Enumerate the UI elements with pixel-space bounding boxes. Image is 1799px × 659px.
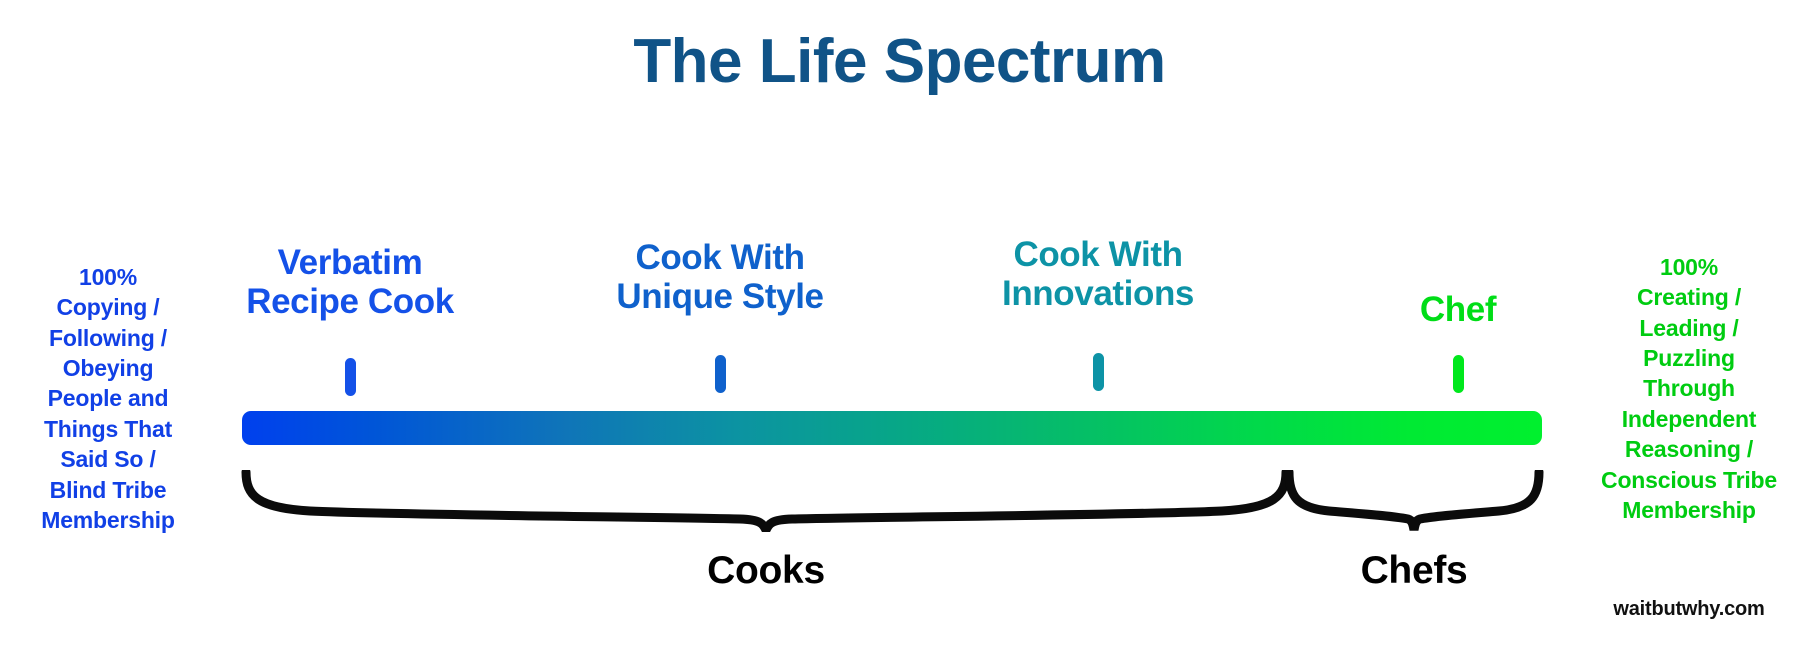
spectrum-gradient-bar bbox=[242, 411, 1542, 445]
infographic-canvas: The Life Spectrum 100% Copying / Followi… bbox=[0, 0, 1799, 659]
watermark-source: waitbutwhy.com bbox=[1585, 598, 1793, 621]
right-end-caption: 100% Creating / Leading / Puzzling Throu… bbox=[1585, 252, 1793, 525]
tick-marker-cook-with-innovations bbox=[1093, 353, 1104, 391]
group-label-chefs: Chefs bbox=[1264, 549, 1564, 593]
tick-marker-cook-with-unique-style bbox=[715, 355, 726, 393]
brace-cooks bbox=[240, 470, 1292, 532]
stop-label-chef: Chef bbox=[1308, 290, 1608, 329]
left-end-caption: 100% Copying / Following / Obeying Peopl… bbox=[8, 262, 208, 535]
page-title: The Life Spectrum bbox=[0, 28, 1799, 96]
stop-label-cook-with-unique-style: Cook With Unique Style bbox=[565, 238, 875, 316]
group-label-cooks: Cooks bbox=[616, 549, 916, 593]
brace-chefs bbox=[1283, 470, 1545, 532]
stop-label-cook-with-innovations: Cook With Innovations bbox=[943, 235, 1253, 313]
stop-label-verbatim-recipe-cook: Verbatim Recipe Cook bbox=[195, 243, 505, 321]
tick-marker-chef bbox=[1453, 355, 1464, 393]
tick-marker-verbatim-recipe-cook bbox=[345, 358, 356, 396]
